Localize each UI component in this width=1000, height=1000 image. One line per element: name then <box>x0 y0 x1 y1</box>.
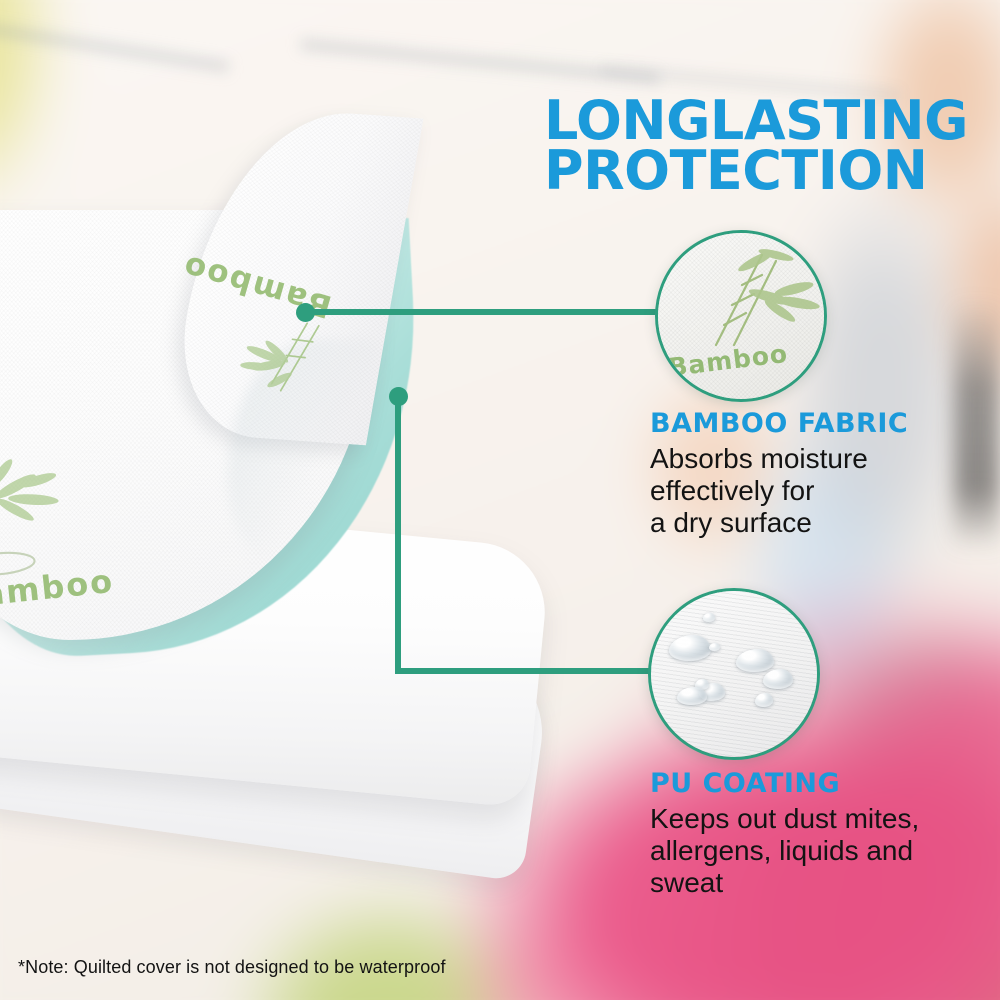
water-droplets-icon <box>763 669 793 689</box>
bamboo-plant-icon <box>710 241 825 356</box>
pu-fabric-texture <box>651 591 817 757</box>
connector-line-pu-horizontal <box>395 668 653 674</box>
feature-pu-coating: PU COATING Keeps out dust mites, allerge… <box>650 768 980 899</box>
feature-bamboo-fabric: BAMBOO FABRIC Absorbs moisture effective… <box>650 408 980 539</box>
water-droplets-icon <box>755 693 773 707</box>
product-photo: Bamboo Bamboo <box>0 190 580 930</box>
feature-body-pu: Keeps out dust mites, allergens, liquids… <box>650 803 980 899</box>
water-droplets-icon <box>677 687 707 705</box>
water-droplets-icon <box>669 635 711 661</box>
connector-line-bamboo <box>305 309 658 315</box>
feature-title-bamboo: BAMBOO FABRIC <box>650 408 980 439</box>
headline-line-2: PROTECTION <box>544 146 984 196</box>
feature-body-bamboo: Absorbs moisture effectively for a dry s… <box>650 443 980 539</box>
callout-circle-pu[interactable] <box>648 588 820 760</box>
page-title: LONGLASTING PROTECTION <box>544 96 984 196</box>
product-infographic: Bamboo Bamboo <box>0 0 1000 1000</box>
connector-line-pu-vertical <box>395 396 401 674</box>
water-droplets-icon <box>736 649 774 672</box>
water-droplets-icon <box>703 613 715 622</box>
bamboo-plant-icon <box>226 299 346 416</box>
bamboo-plant-icon <box>0 425 111 601</box>
footnote-disclaimer: *Note: Quilted cover is not designed to … <box>18 957 446 978</box>
water-droplets-icon <box>709 643 720 651</box>
callout-circle-bamboo[interactable]: Bamboo <box>655 230 827 402</box>
feature-title-pu: PU COATING <box>650 768 980 799</box>
